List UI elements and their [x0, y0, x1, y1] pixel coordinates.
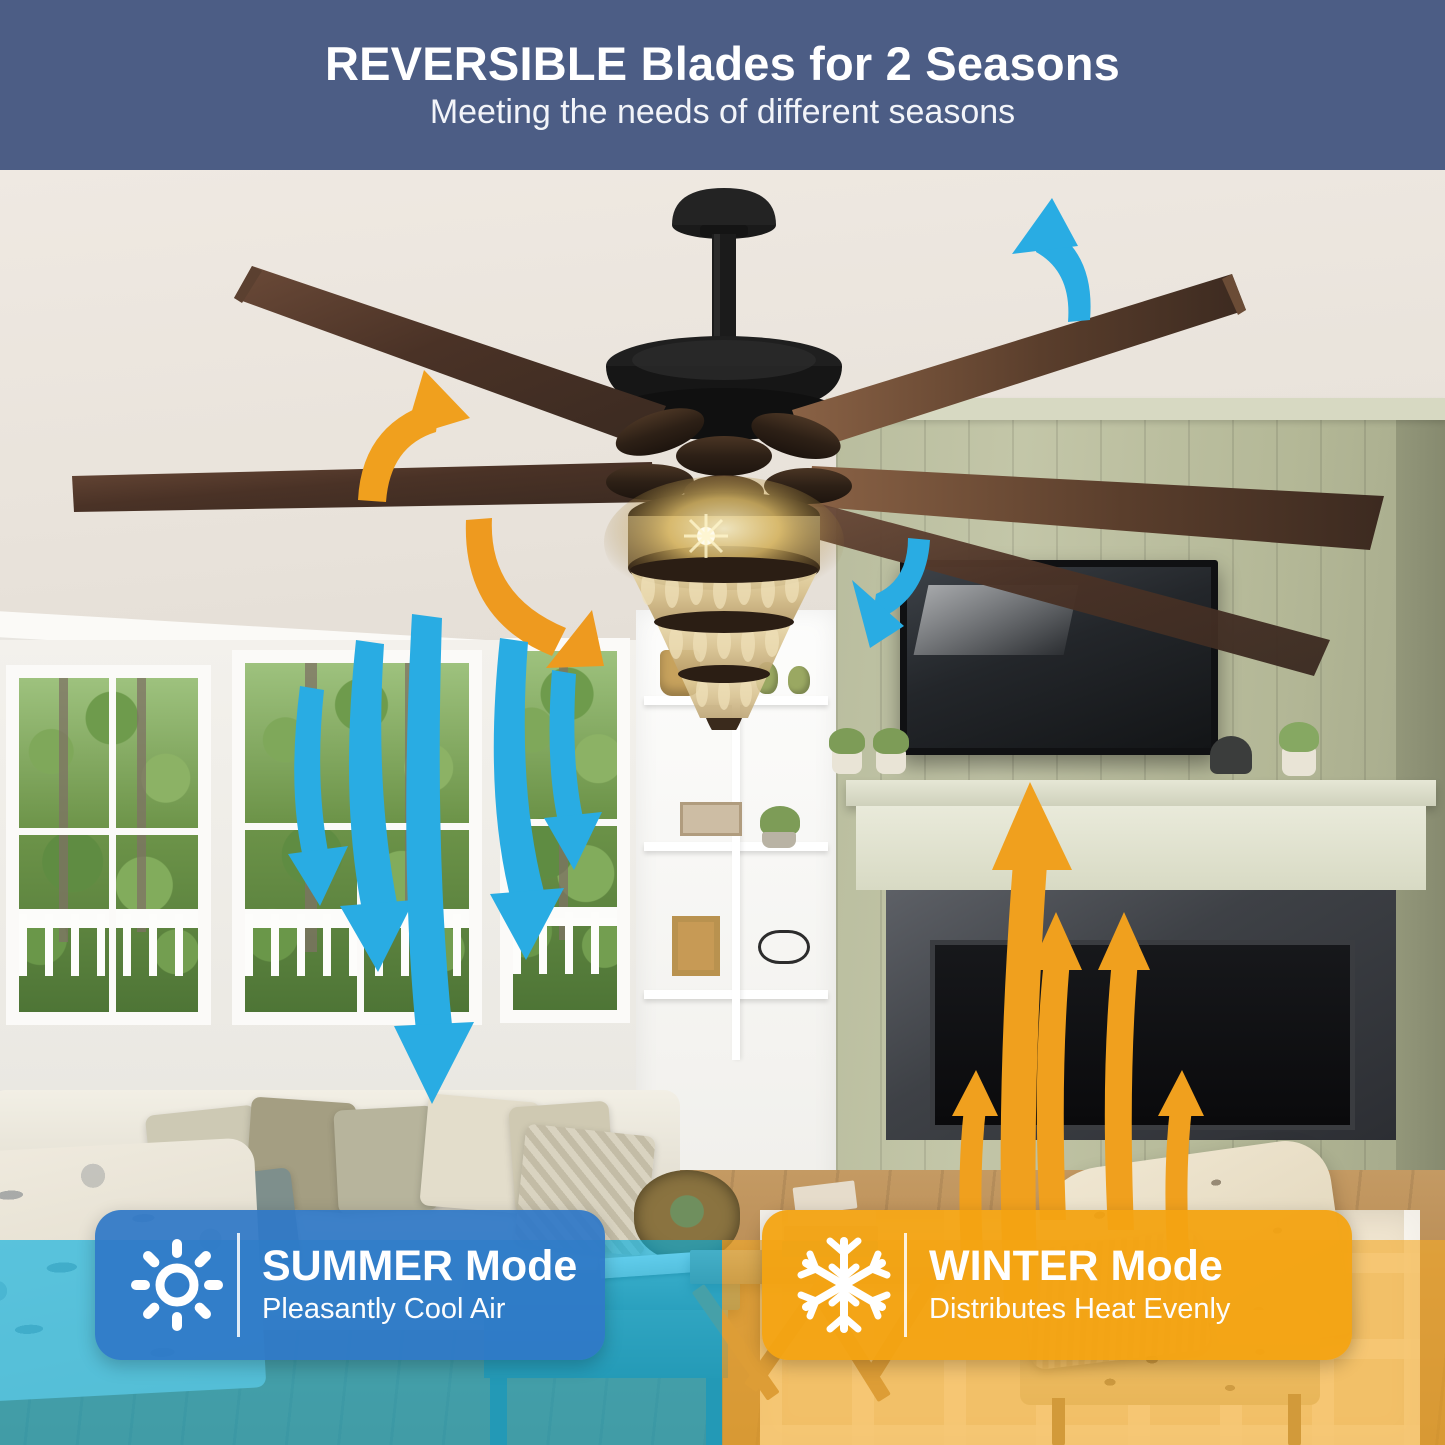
firebox [930, 940, 1355, 1130]
winter-badge-text: WINTER Mode Distributes Heat Evenly [929, 1244, 1230, 1325]
summer-mode-badge[interactable]: SUMMER Mode Pleasantly Cool Air [95, 1210, 605, 1360]
chair-leg [1052, 1398, 1065, 1445]
decor-sign [680, 802, 742, 836]
crystal-chandelier-light-kit [604, 476, 844, 730]
room-scene-photo: SUMMER Mode Pleasantly Cool Air [0, 170, 1445, 1445]
product-infographic: REVERSIBLE Blades for 2 Seasons Meeting … [0, 0, 1445, 1445]
snowflake-icon [788, 1235, 900, 1335]
window-mullion [19, 828, 198, 835]
fan-mount [672, 188, 776, 352]
planter [762, 832, 796, 848]
shelf-divider [732, 700, 740, 1060]
picture-frame [672, 916, 720, 976]
fireplace-mantel [846, 780, 1436, 806]
badge-divider [904, 1233, 907, 1337]
window-mullion [245, 823, 469, 830]
bicycle-sculpture [758, 930, 810, 964]
mode-badge-row: SUMMER Mode Pleasantly Cool Air [0, 1210, 1445, 1360]
deck-railing [513, 912, 617, 974]
badge-divider [237, 1233, 240, 1337]
table-leg [490, 1378, 507, 1445]
grass-plant [829, 728, 865, 754]
winter-mode-badge[interactable]: WINTER Mode Distributes Heat Evenly [762, 1210, 1352, 1360]
winter-badge-subtitle: Distributes Heat Evenly [929, 1294, 1230, 1326]
sun-icon [121, 1237, 233, 1333]
page-title: REVERSIBLE Blades for 2 Seasons [325, 39, 1120, 88]
ceiling-fan [0, 170, 1445, 730]
window-mullion [513, 819, 617, 826]
decorative-urn [1210, 736, 1252, 774]
page-subtitle: Meeting the needs of different seasons [430, 94, 1015, 131]
chair-leg [1288, 1394, 1301, 1445]
summer-badge-title: SUMMER Mode [262, 1244, 577, 1289]
grass-plant [873, 728, 909, 754]
fireplace-mantel-body [856, 806, 1426, 890]
winter-badge-title: WINTER Mode [929, 1244, 1230, 1289]
summer-badge-text: SUMMER Mode Pleasantly Cool Air [262, 1244, 577, 1325]
header-banner: REVERSIBLE Blades for 2 Seasons Meeting … [0, 0, 1445, 170]
summer-badge-subtitle: Pleasantly Cool Air [262, 1294, 577, 1326]
plant-pot [1282, 748, 1316, 776]
